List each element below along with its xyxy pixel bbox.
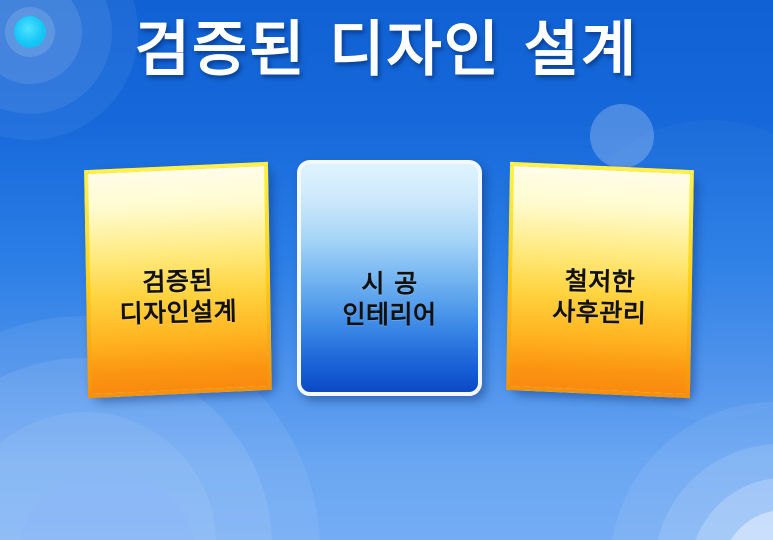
- feature-card-design-line-1: 검증된: [119, 266, 237, 299]
- feature-card-aftercare[interactable]: 철저한 사후관리: [506, 162, 694, 398]
- feature-card-construction-line-1: 시 공: [342, 269, 436, 300]
- feature-card-construction-line-2: 인테리어: [342, 300, 436, 331]
- presentation-slide: 검증된 디자인 설계 검증된 디자인설계 시 공 인테리어 철저한 사후관리: [0, 0, 773, 540]
- feature-card-construction-text: 시 공 인테리어: [342, 269, 436, 330]
- feature-card-aftercare-line-2: 사후관리: [552, 296, 647, 329]
- feature-card-construction[interactable]: 시 공 인테리어: [297, 160, 482, 396]
- feature-card-aftercare-line-1: 철저한: [553, 266, 648, 299]
- feature-card-design-text: 검증된 디자인설계: [119, 266, 238, 330]
- feature-card-aftercare-text: 철저한 사후관리: [552, 266, 647, 329]
- feature-card-group: 검증된 디자인설계 시 공 인테리어 철저한 사후관리: [0, 0, 773, 540]
- feature-card-design-line-2: 디자인설계: [120, 296, 238, 329]
- feature-card-design[interactable]: 검증된 디자인설계: [84, 162, 272, 398]
